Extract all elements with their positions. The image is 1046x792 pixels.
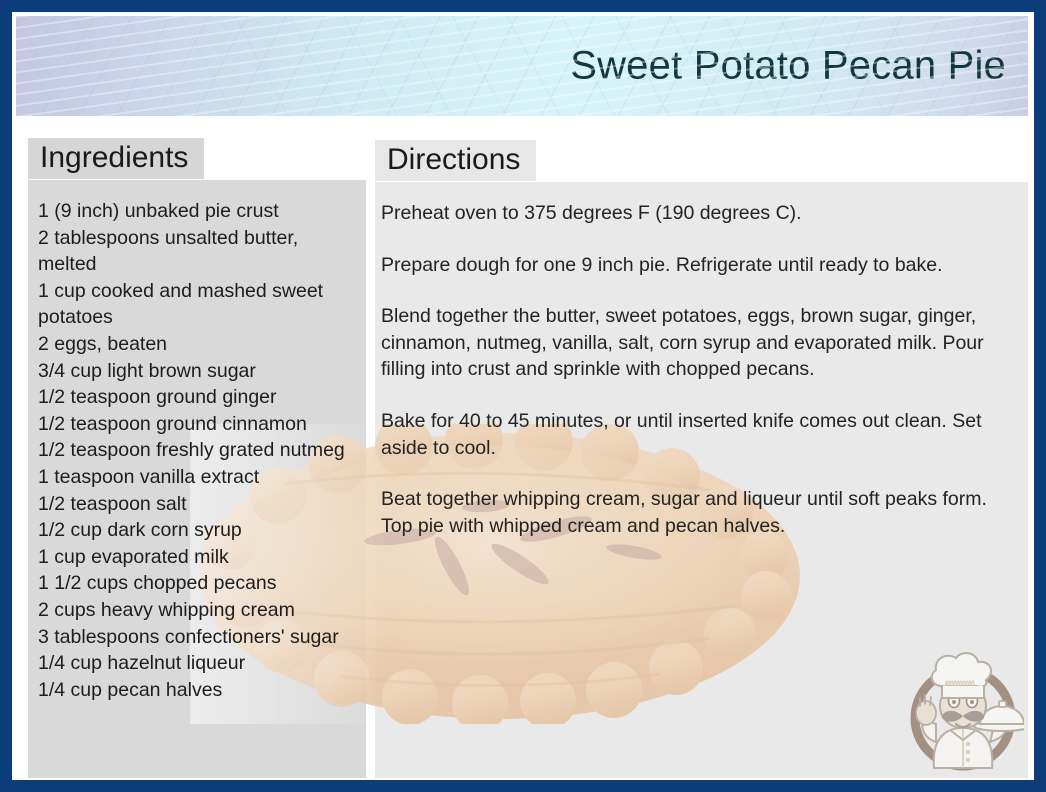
ingredient-item: 1/4 cup hazelnut liqueur [38, 650, 354, 677]
ingredient-item: 1 cup cooked and mashed sweet potatoes [38, 278, 354, 331]
ingredient-item: 2 tablespoons unsalted butter, melted [38, 225, 354, 278]
direction-step: Prepare dough for one 9 inch pie. Refrig… [381, 252, 1012, 279]
header-banner: Sweet Potato Pecan Pie [16, 16, 1028, 116]
ingredient-item: 1 (9 inch) unbaked pie crust [38, 198, 354, 225]
ingredient-item: 1 1/2 cups chopped pecans [38, 570, 354, 597]
direction-step: Preheat oven to 375 degrees F (190 degre… [381, 200, 1012, 227]
direction-step: Bake for 40 to 45 minutes, or until inse… [381, 408, 1012, 461]
recipe-card: Sweet Potato Pecan Pie Ingredients Direc… [0, 0, 1046, 792]
direction-step: Blend together the butter, sweet potatoe… [381, 303, 1012, 383]
directions-panel: Preheat oven to 375 degrees F (190 degre… [375, 182, 1028, 778]
page-title: Sweet Potato Pecan Pie [570, 44, 1006, 89]
ingredient-item: 1/4 cup pecan halves [38, 677, 354, 704]
ingredient-item: 1/2 teaspoon ground ginger [38, 384, 354, 411]
ingredient-item: 1 teaspoon vanilla extract [38, 464, 354, 491]
ingredient-item: 3 tablespoons confectioners' sugar [38, 624, 354, 651]
ingredients-panel: 1 (9 inch) unbaked pie crust2 tablespoon… [28, 180, 366, 778]
ingredient-list: 1 (9 inch) unbaked pie crust2 tablespoon… [38, 198, 354, 703]
direction-step: Beat together whipping cream, sugar and … [381, 486, 1012, 539]
tab-directions[interactable]: Directions [375, 140, 536, 181]
tab-ingredients[interactable]: Ingredients [28, 138, 204, 179]
directions-list: Preheat oven to 375 degrees F (190 degre… [381, 200, 1012, 539]
ingredient-item: 1/2 teaspoon salt [38, 491, 354, 518]
ingredient-item: 1/2 teaspoon freshly grated nutmeg [38, 437, 354, 464]
ingredient-item: 1 cup evaporated milk [38, 544, 354, 571]
ingredient-item: 3/4 cup light brown sugar [38, 358, 354, 385]
ingredient-item: 1/2 cup dark corn syrup [38, 517, 354, 544]
ingredient-item: 2 cups heavy whipping cream [38, 597, 354, 624]
ingredient-item: 2 eggs, beaten [38, 331, 354, 358]
ingredient-item: 1/2 teaspoon ground cinnamon [38, 411, 354, 438]
